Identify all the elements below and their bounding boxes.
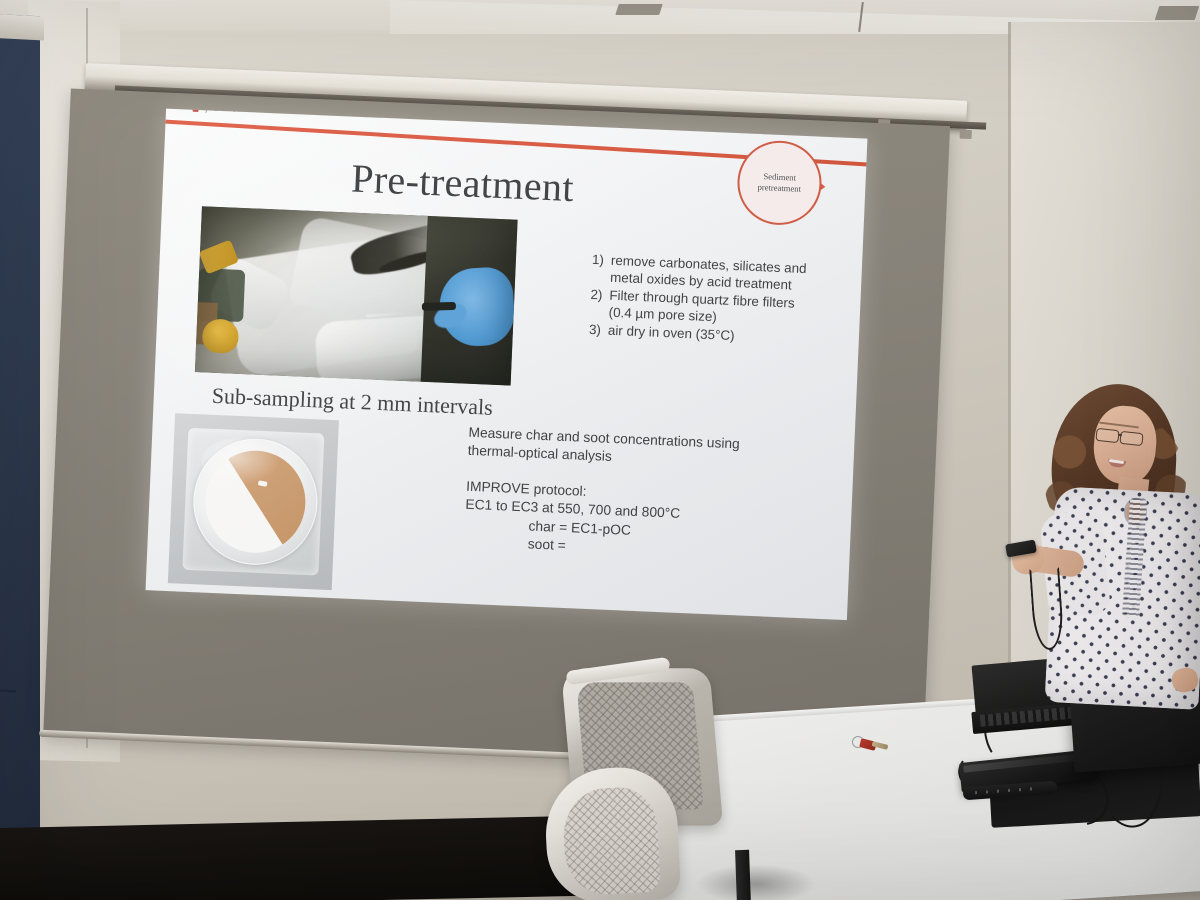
subsampling-caption: Sub-sampling at 2 mm intervals — [211, 383, 493, 421]
list-number: 1) — [591, 251, 604, 286]
chair-post — [735, 850, 751, 900]
list-number: 3) — [589, 321, 602, 339]
logo-wordmark: university of groningen — [214, 109, 249, 113]
presenter — [1000, 382, 1200, 802]
mesh-office-chair — [546, 664, 756, 900]
glasses-icon — [1095, 428, 1119, 443]
navy-pinboard — [0, 14, 40, 896]
slide-body-text: Measure char and soot concentrations usi… — [463, 424, 828, 567]
chair-shadow — [696, 864, 816, 900]
badge-circle: Sediment pretreatment — [736, 139, 824, 227]
slide-title: Pre-treatment — [350, 155, 575, 211]
yellow-lab-tool — [202, 318, 239, 354]
glasses-bridge — [1118, 434, 1122, 436]
projector-screen: university of groningen Pre-treatment Se… — [31, 62, 960, 790]
ceiling-light-fixture — [1155, 6, 1200, 20]
screen-surface: university of groningen Pre-treatment Se… — [43, 88, 950, 771]
glasses-icon — [1119, 431, 1143, 446]
groningen-crest-icon — [188, 109, 204, 114]
keys-on-table — [852, 736, 888, 754]
chair-seat-mesh — [561, 786, 660, 897]
sediment-core-foil-photo — [195, 206, 518, 385]
university-logo: university of groningen — [188, 109, 250, 116]
section-badge: Sediment pretreatment — [736, 139, 828, 231]
list-number: 2) — [589, 286, 602, 321]
procedure-list: 1) remove carbonates, silicates and meta… — [589, 251, 811, 347]
ceiling-light-fixture — [615, 4, 663, 15]
petri-dish-filter-photo — [168, 413, 339, 590]
handheld-tool — [422, 302, 456, 311]
pinboard-frame — [0, 14, 44, 41]
projected-slide: university of groningen Pre-treatment Se… — [146, 109, 868, 621]
logo-line-2: groningen — [214, 109, 249, 113]
logo-slash-divider — [205, 109, 212, 114]
badge-line-2: pretreatment — [757, 182, 801, 195]
room-scene: university of groningen Pre-treatment Se… — [0, 0, 1200, 900]
screen-mount-bracket — [960, 130, 972, 140]
